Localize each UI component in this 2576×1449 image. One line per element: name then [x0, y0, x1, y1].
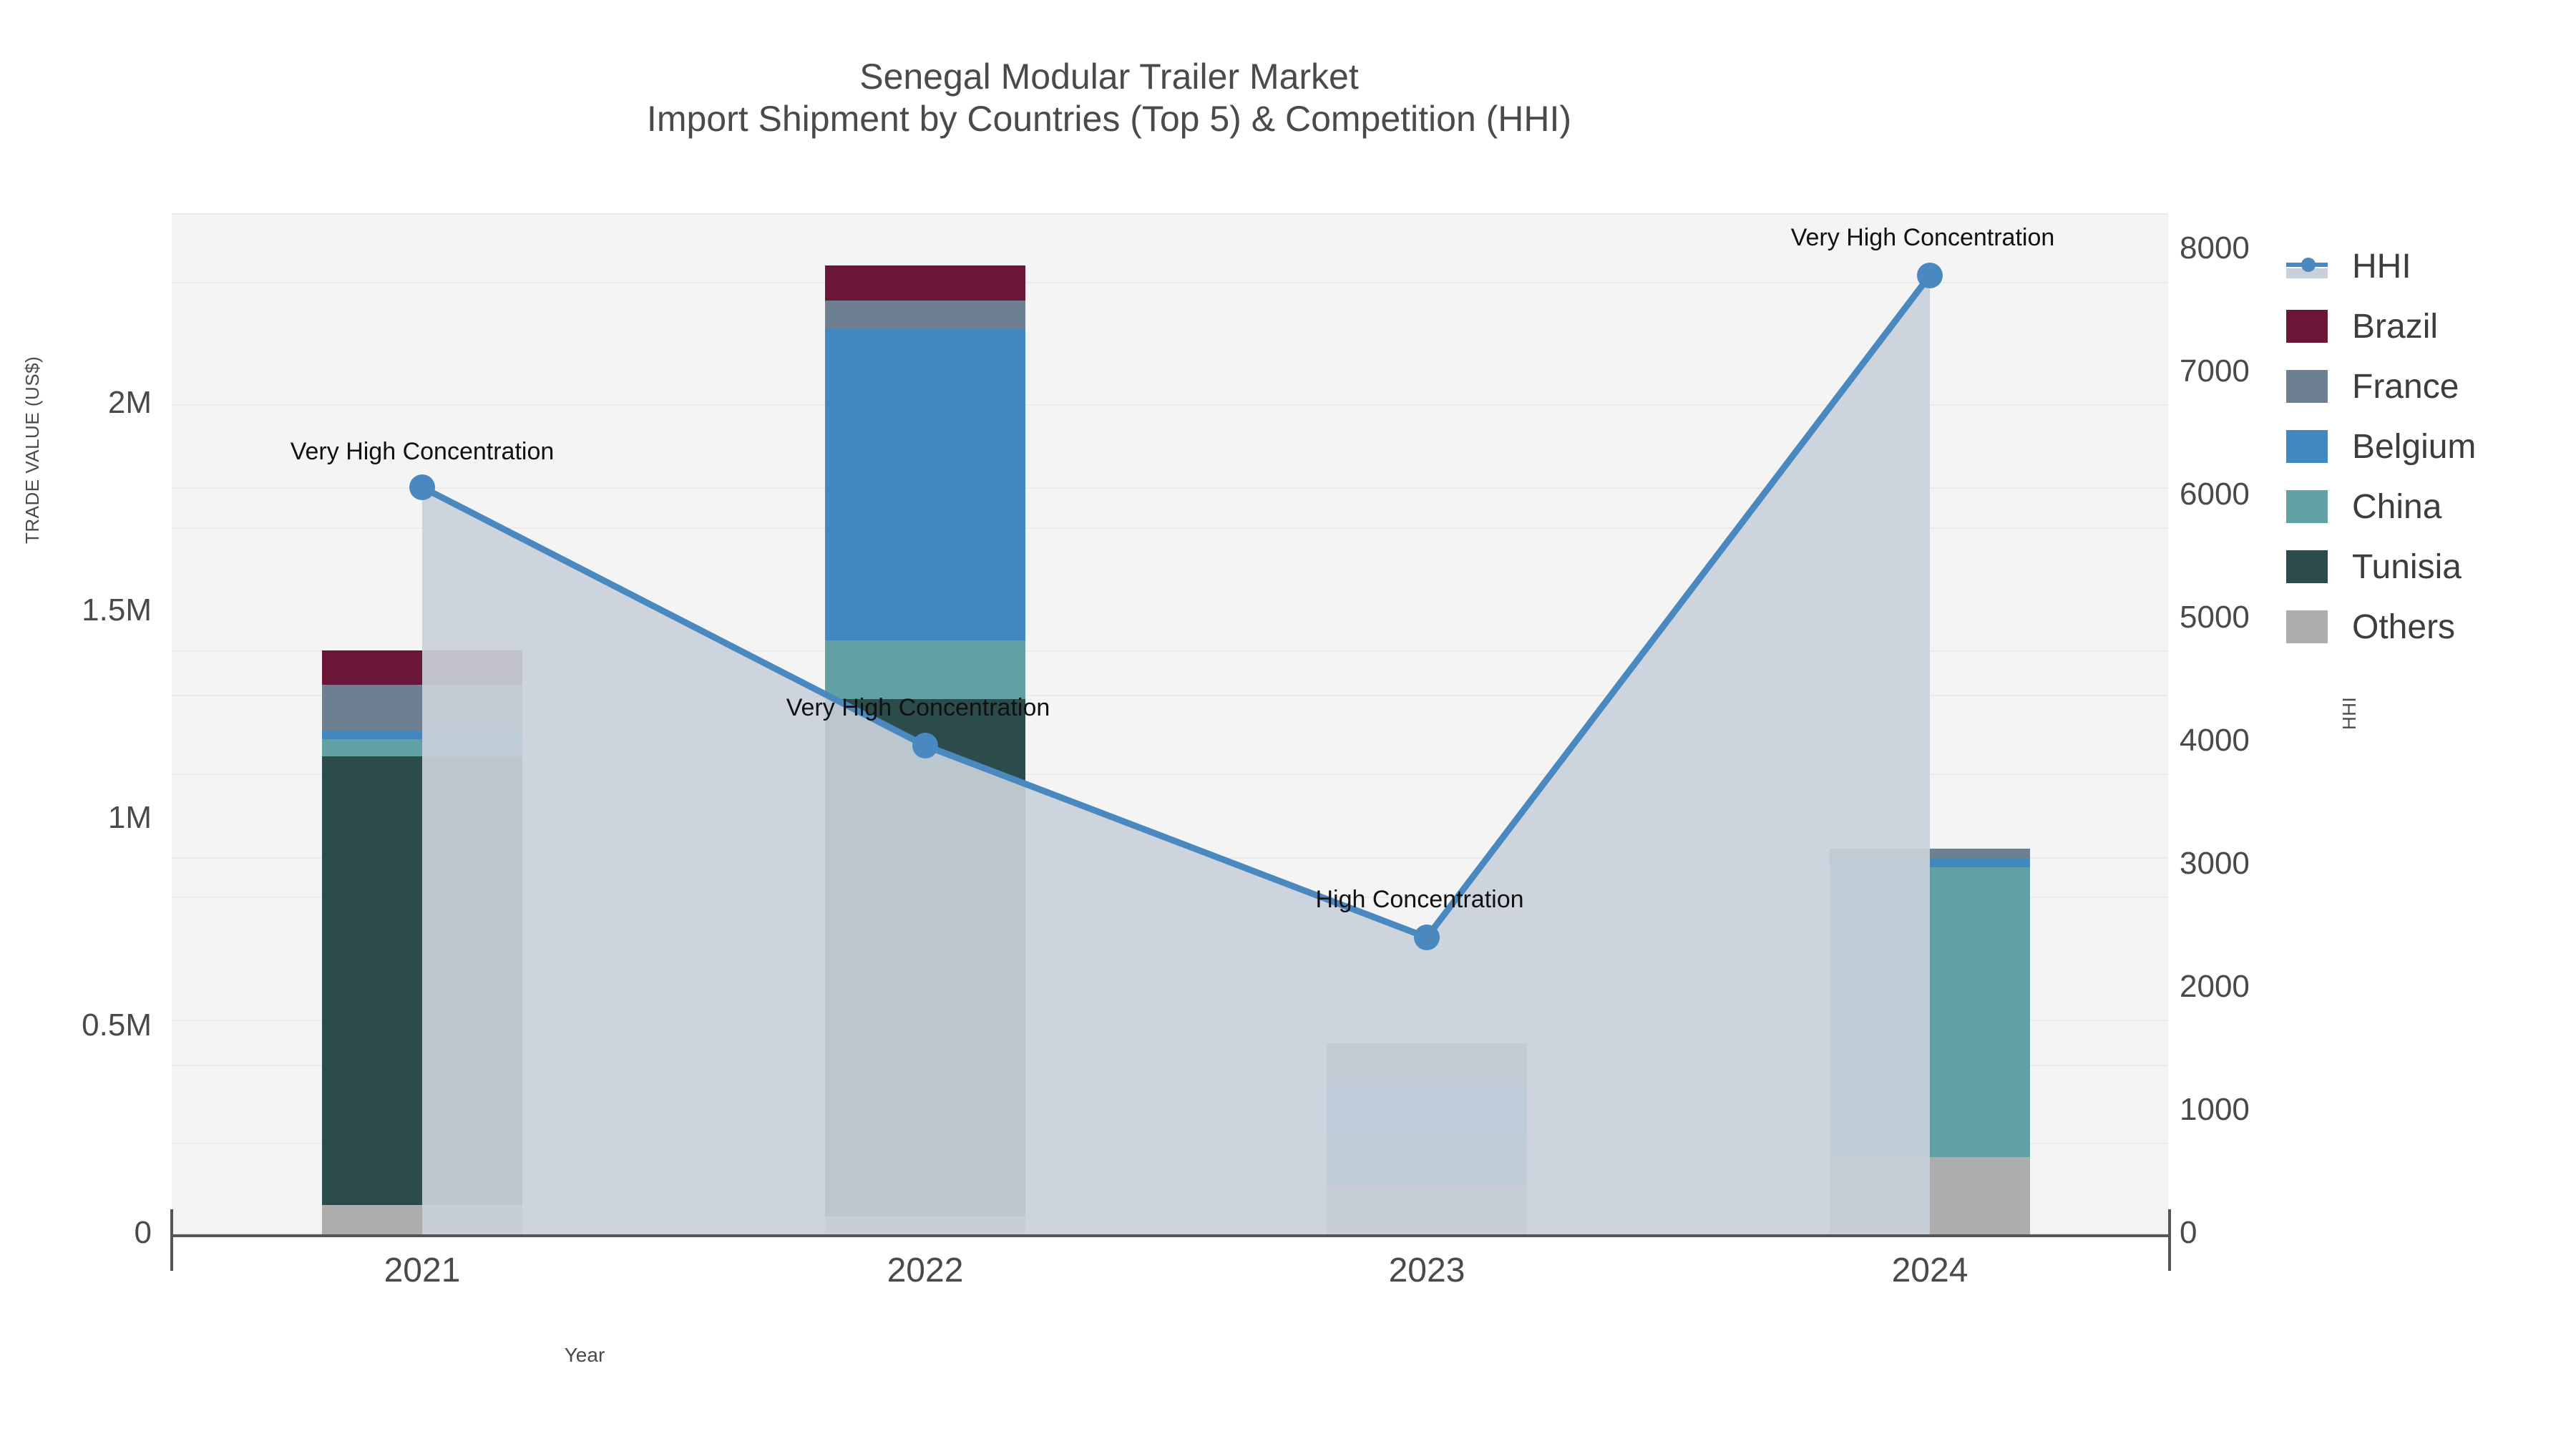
y-axis-left-tick: 0: [0, 1215, 152, 1251]
gridline: [172, 282, 2168, 283]
x-axis-label: Year: [0, 1344, 1169, 1367]
bar-stack-2024[interactable]: [1830, 849, 2030, 1234]
legend-label: France: [2352, 367, 2459, 406]
bar-stack-2021[interactable]: [322, 650, 522, 1234]
bar-segment-tunisia[interactable]: [825, 699, 1025, 1216]
chart-title: Senegal Modular Trailer Market Import Sh…: [0, 56, 2218, 140]
y-axis-left-tick: 1.5M: [0, 592, 152, 628]
bar-segment-china[interactable]: [825, 640, 1025, 699]
gridline: [172, 404, 2168, 406]
legend-swatch-icon: [2286, 310, 2328, 343]
y-axis-left-tick: 1M: [0, 800, 152, 836]
legend-swatch-icon: [2286, 490, 2328, 523]
bar-stack-2022[interactable]: [825, 265, 1025, 1234]
y-axis-right-tick: 0: [2180, 1215, 2197, 1251]
x-axis-tick-2023: 2023: [1319, 1251, 1534, 1290]
legend: HHI Brazil France Belgium China Tunisia …: [2286, 236, 2572, 657]
x-axis-line: [172, 1234, 2168, 1237]
y-axis-right-tick: 1000: [2180, 1092, 2250, 1128]
bar-segment-brazil[interactable]: [825, 265, 1025, 301]
x-axis-tick-2024: 2024: [1823, 1251, 2037, 1290]
bar-segment-china[interactable]: [1830, 867, 2030, 1157]
bar-segment-belgium[interactable]: [825, 329, 1025, 640]
y-axis-right-spine: [2168, 1209, 2171, 1271]
bar-segment-china[interactable]: [322, 739, 522, 756]
legend-swatch-icon: [2286, 430, 2328, 463]
y-axis-right-tick: 8000: [2180, 230, 2250, 266]
bar-segment-belgium[interactable]: [1327, 1086, 1527, 1136]
legend-line-icon: [2286, 250, 2328, 283]
legend-label: Brazil: [2352, 307, 2438, 346]
y-axis-right-tick: 4000: [2180, 723, 2250, 758]
legend-swatch-icon: [2286, 550, 2328, 583]
legend-item-hhi[interactable]: HHI: [2286, 236, 2572, 296]
gridline: [172, 487, 2168, 489]
y-axis-right-tick: 7000: [2180, 353, 2250, 389]
chart-title-line-2: Import Shipment by Countries (Top 5) & C…: [0, 98, 2218, 140]
annotation-2024: Very High Concentration: [1672, 224, 2173, 252]
bar-segment-belgium[interactable]: [322, 731, 522, 739]
bar-segment-france[interactable]: [1327, 1043, 1527, 1086]
y-axis-left-tick: 0.5M: [0, 1008, 152, 1043]
y-axis-right-tick: 5000: [2180, 600, 2250, 635]
legend-item-china[interactable]: China: [2286, 477, 2572, 537]
y-axis-right-tick: 6000: [2180, 477, 2250, 512]
bar-segment-others[interactable]: [1830, 1157, 2030, 1234]
legend-item-others[interactable]: Others: [2286, 597, 2572, 657]
bar-segment-france[interactable]: [1830, 849, 2030, 859]
legend-item-belgium[interactable]: Belgium: [2286, 416, 2572, 477]
bar-segment-china[interactable]: [1327, 1136, 1527, 1184]
legend-item-brazil[interactable]: Brazil: [2286, 296, 2572, 356]
bar-segment-others[interactable]: [1327, 1184, 1527, 1234]
annotation-2022: Very High Concentration: [668, 694, 1169, 722]
annotation-2021: Very High Concentration: [172, 438, 673, 466]
y-axis-left-spine: [170, 1209, 173, 1271]
legend-label: Tunisia: [2352, 547, 2462, 587]
legend-label: HHI: [2352, 247, 2411, 286]
bar-segment-belgium[interactable]: [1830, 859, 2030, 867]
bar-segment-france[interactable]: [322, 685, 522, 731]
legend-swatch-icon: [2286, 370, 2328, 403]
bar-segment-brazil[interactable]: [322, 650, 522, 685]
gridline: [172, 213, 2168, 215]
x-axis-tick-2021: 2021: [315, 1251, 530, 1290]
x-axis-tick-2022: 2022: [818, 1251, 1033, 1290]
legend-item-france[interactable]: France: [2286, 356, 2572, 416]
chart-title-line-1: Senegal Modular Trailer Market: [0, 56, 2218, 98]
bar-segment-others[interactable]: [825, 1216, 1025, 1234]
legend-label: Others: [2352, 608, 2455, 647]
y-axis-right-tick: 2000: [2180, 969, 2250, 1005]
legend-item-tunisia[interactable]: Tunisia: [2286, 537, 2572, 597]
y-axis-left-label: TRADE VALUE (US$): [21, 356, 44, 544]
legend-swatch-icon: [2286, 610, 2328, 643]
bar-segment-others[interactable]: [322, 1205, 522, 1234]
bar-stack-2023[interactable]: [1327, 1043, 1527, 1234]
annotation-2023: High Concentration: [1169, 886, 1670, 914]
bar-segment-france[interactable]: [825, 301, 1025, 329]
gridline: [172, 527, 2168, 529]
y-axis-right-tick: 3000: [2180, 846, 2250, 882]
legend-label: China: [2352, 487, 2441, 527]
legend-label: Belgium: [2352, 427, 2476, 467]
bar-segment-tunisia[interactable]: [322, 756, 522, 1205]
y-axis-right-label: HHI: [2338, 697, 2361, 730]
